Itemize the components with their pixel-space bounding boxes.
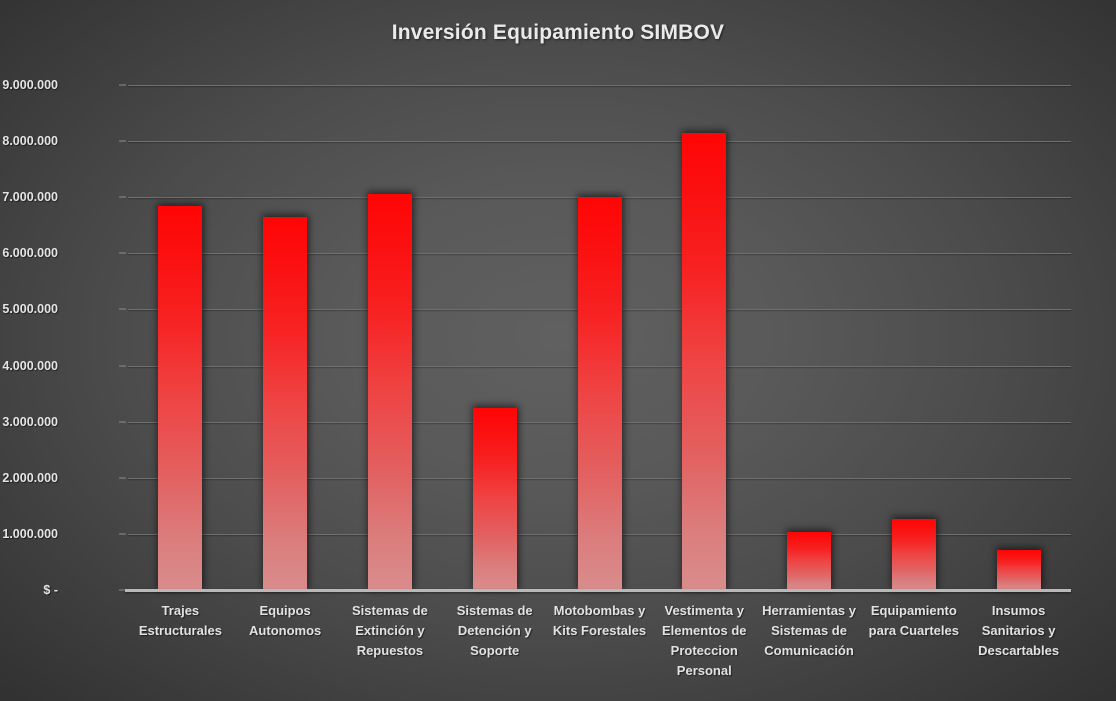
x-axis-category-label: Equipamiento para Cuarteles — [861, 601, 966, 641]
y-axis-tick-mark — [119, 477, 126, 478]
y-axis-tick-mark — [119, 533, 126, 534]
bar[interactable] — [997, 550, 1041, 590]
y-axis-tick-mark — [119, 365, 126, 366]
y-axis-tick-mark — [119, 197, 126, 198]
bar[interactable] — [787, 532, 831, 590]
y-axis-tick-label: $ - — [0, 583, 58, 597]
bar[interactable] — [158, 206, 202, 590]
y-axis-tick-mark — [119, 421, 126, 422]
x-axis-category-label: Insumos Sanitarios y Descartables — [966, 601, 1071, 661]
y-axis-tick-label: $ 4.000.000 — [0, 359, 58, 373]
x-axis-category-label: Motobombas y Kits Forestales — [547, 601, 652, 641]
bar[interactable] — [368, 194, 412, 590]
x-axis-category-label: Vestimenta y Elementos de Proteccion Per… — [652, 601, 757, 681]
x-axis-category-label: Equipos Autonomos — [233, 601, 338, 641]
x-axis-category-label: Herramientas y Sistemas de Comunicación — [757, 601, 862, 661]
y-axis-tick-label: $ 1.000.000 — [0, 527, 58, 541]
y-axis-tick-label: $ 8.000.000 — [0, 134, 58, 148]
y-axis-tick-mark — [119, 309, 126, 310]
y-axis-tick-label: $ 2.000.000 — [0, 471, 58, 485]
y-axis-tick-mark — [119, 141, 126, 142]
y-axis-tick-label: $ 5.000.000 — [0, 302, 58, 316]
y-axis-tick-label: $ 3.000.000 — [0, 415, 58, 429]
plot-area — [128, 85, 1071, 590]
y-axis-tick-mark — [119, 85, 126, 86]
bar[interactable] — [473, 408, 517, 590]
x-axis-category-label: Sistemas de Extinción y Repuestos — [338, 601, 443, 661]
y-axis-tick-label: $ 6.000.000 — [0, 246, 58, 260]
y-axis-tick-label: $ 9.000.000 — [0, 78, 58, 92]
bar[interactable] — [682, 133, 726, 590]
gridline — [128, 141, 1071, 142]
bar[interactable] — [263, 217, 307, 590]
chart-title: Inversión Equipamiento SIMBOV — [0, 21, 1116, 45]
chart-container: Inversión Equipamiento SIMBOV $ 9.000.00… — [0, 0, 1116, 701]
y-axis-tick-mark — [119, 253, 126, 254]
baseline-axis — [125, 589, 1071, 592]
x-axis-category-label: Sistemas de Detención y Soporte — [442, 601, 547, 661]
y-axis-tick-label: $ 7.000.000 — [0, 190, 58, 204]
x-axis-category-label: Trajes Estructurales — [128, 601, 233, 641]
bar[interactable] — [578, 197, 622, 590]
gridline — [128, 85, 1071, 86]
bar[interactable] — [892, 519, 936, 590]
